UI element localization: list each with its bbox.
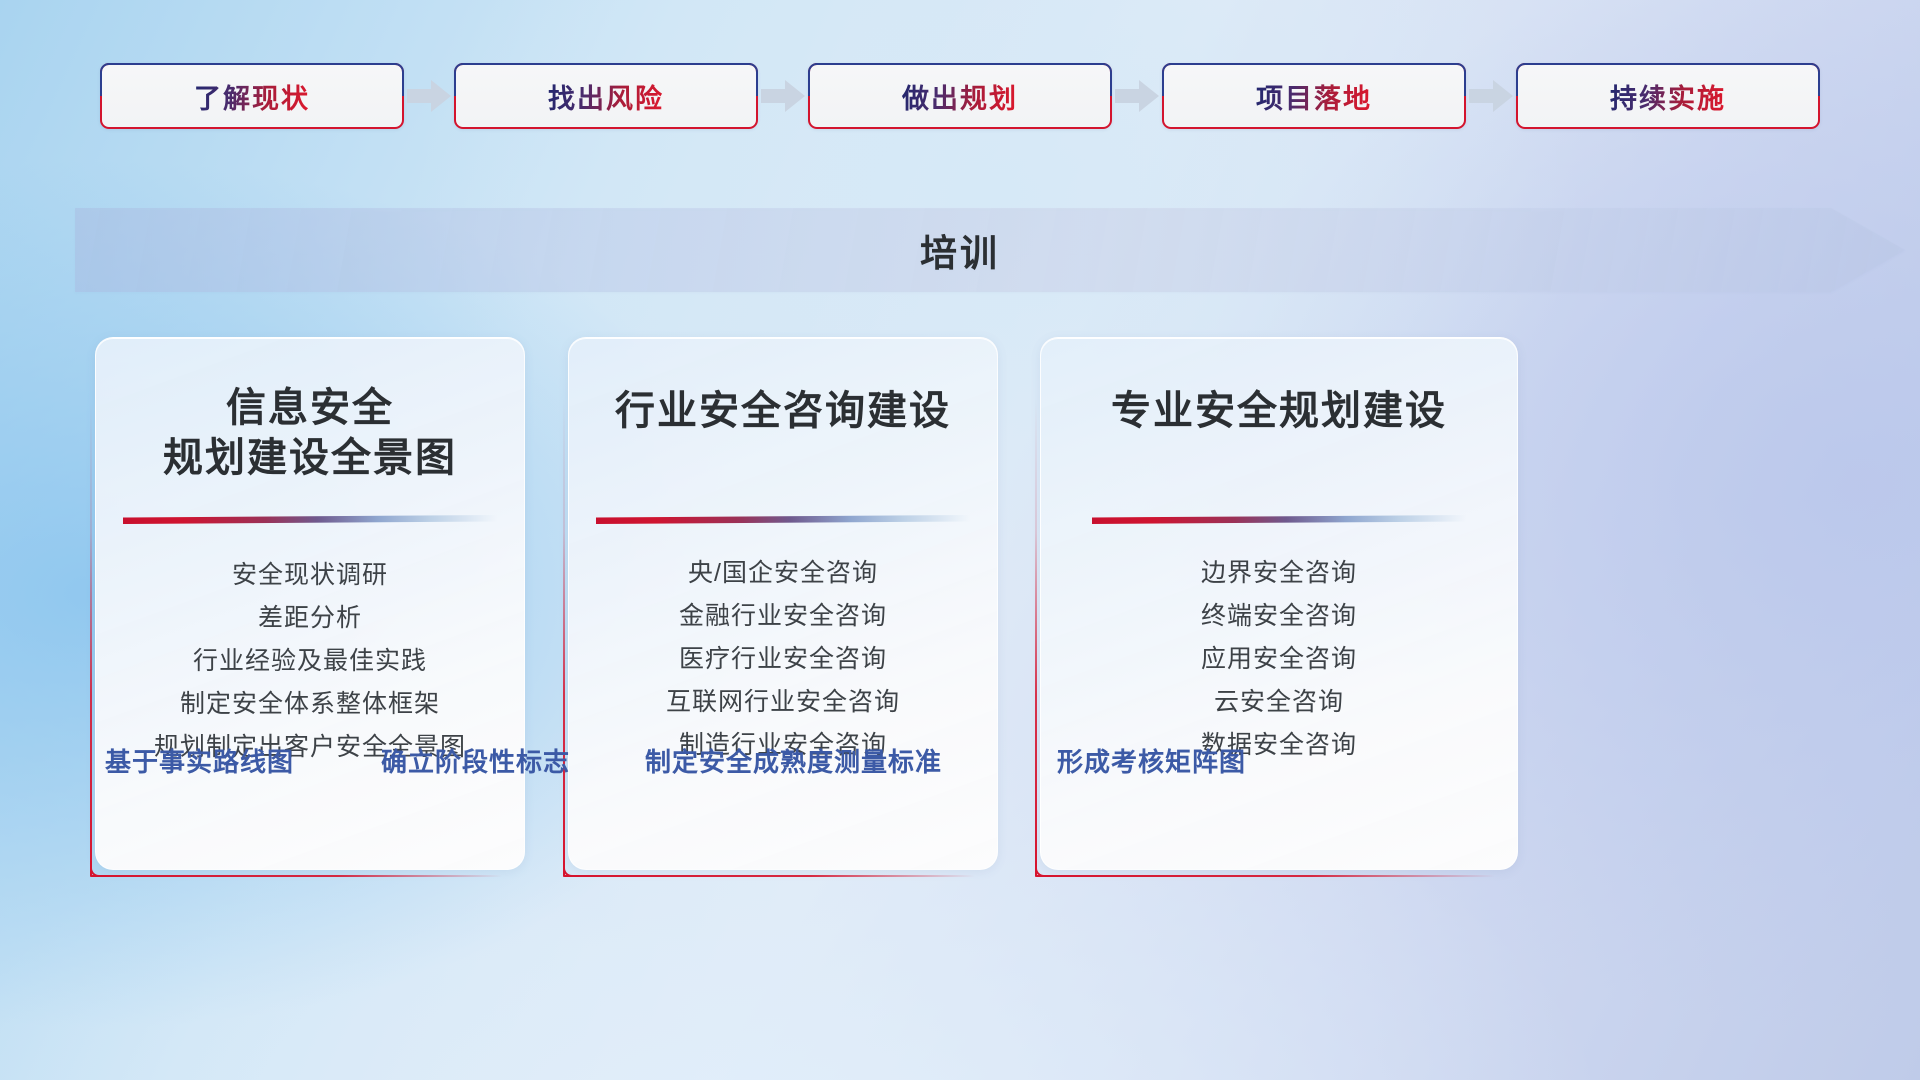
step-label-4: 项目落地 [1256,77,1372,116]
card-title-line1: 信息安全 [96,383,524,433]
step-box-2[interactable]: 找出风险 [454,63,758,129]
list-item: 安全现状调研 [96,554,524,597]
training-banner-arrow: 培训 [75,208,1905,292]
list-item: 行业经验及最佳实践 [96,640,524,683]
step-box-3[interactable]: 做出规划 [808,63,1112,129]
card-item-list: 边界安全咨询 终端安全咨询 应用安全咨询 云安全咨询 数据安全咨询 [1041,552,1517,767]
card-title-line2: 规划建设全景图 [96,433,524,483]
step-arrow-icon-2 [758,61,808,131]
card-item-list: 央/国企安全咨询 金融行业安全咨询 医疗行业安全咨询 互联网行业安全咨询 制造行… [569,552,997,767]
card-accent-line-bottom [563,875,975,877]
card-divider [1092,515,1466,524]
caption-maturity-standard: 制定安全成熟度测量标准 [645,742,942,779]
caption-row: 基于事实路线图 确立阶段性标志 制定安全成熟度测量标准 形成考核矩阵图 [0,742,1920,794]
card-title: 信息安全 规划建设全景图 [96,338,524,483]
card-accent-line-bottom [1035,875,1495,877]
step-arrow-icon-3 [1112,61,1162,131]
caption-fact-based-roadmap: 基于事实路线图 [105,742,294,779]
step-label-3: 做出规划 [902,77,1018,116]
list-item: 终端安全咨询 [1041,595,1517,638]
list-item: 差距分析 [96,597,524,640]
card-title: 行业安全咨询建设 [569,338,997,436]
step-arrow-icon-4 [1466,61,1516,131]
step-box-1[interactable]: 了解现状 [100,63,404,129]
list-item: 制定安全体系整体框架 [96,683,524,726]
card-accent-line-bottom [90,875,502,877]
step-arrow-icon-1 [404,61,454,131]
card-accent-line-left [1035,398,1037,877]
card-title-line1: 专业安全规划建设 [1041,386,1517,436]
card-divider [596,515,970,524]
card-title: 专业安全规划建设 [1041,338,1517,436]
card-item-list: 安全现状调研 差距分析 行业经验及最佳实践 制定安全体系整体框架 规划制定出客户… [96,554,524,769]
list-item: 边界安全咨询 [1041,552,1517,595]
card-title-line1: 行业安全咨询建设 [569,386,997,436]
list-item: 云安全咨询 [1041,681,1517,724]
step-box-4[interactable]: 项目落地 [1162,63,1466,129]
banner-label: 培训 [75,208,1905,292]
list-item: 金融行业安全咨询 [569,595,997,638]
step-label-5: 持续实施 [1610,77,1726,116]
card-accent-line-left [90,398,92,877]
caption-phase-milestones: 确立阶段性标志 [381,742,570,779]
step-label-1: 了解现状 [194,77,310,116]
caption-assessment-matrix: 形成考核矩阵图 [1057,742,1246,779]
list-item: 互联网行业安全咨询 [569,681,997,724]
process-step-row: 了解现状 找出风险 做出规划 项目落地 持续实施 [0,61,1920,131]
list-item: 医疗行业安全咨询 [569,638,997,681]
card-accent-line-left [563,398,565,877]
step-box-5[interactable]: 持续实施 [1516,63,1820,129]
list-item: 央/国企安全咨询 [569,552,997,595]
card-divider [123,515,497,524]
card-group: 信息安全 规划建设全景图 安全现状调研 差距分析 行业经验及最佳实践 制定安全体… [0,337,1920,877]
step-label-2: 找出风险 [548,77,664,116]
list-item: 应用安全咨询 [1041,638,1517,681]
